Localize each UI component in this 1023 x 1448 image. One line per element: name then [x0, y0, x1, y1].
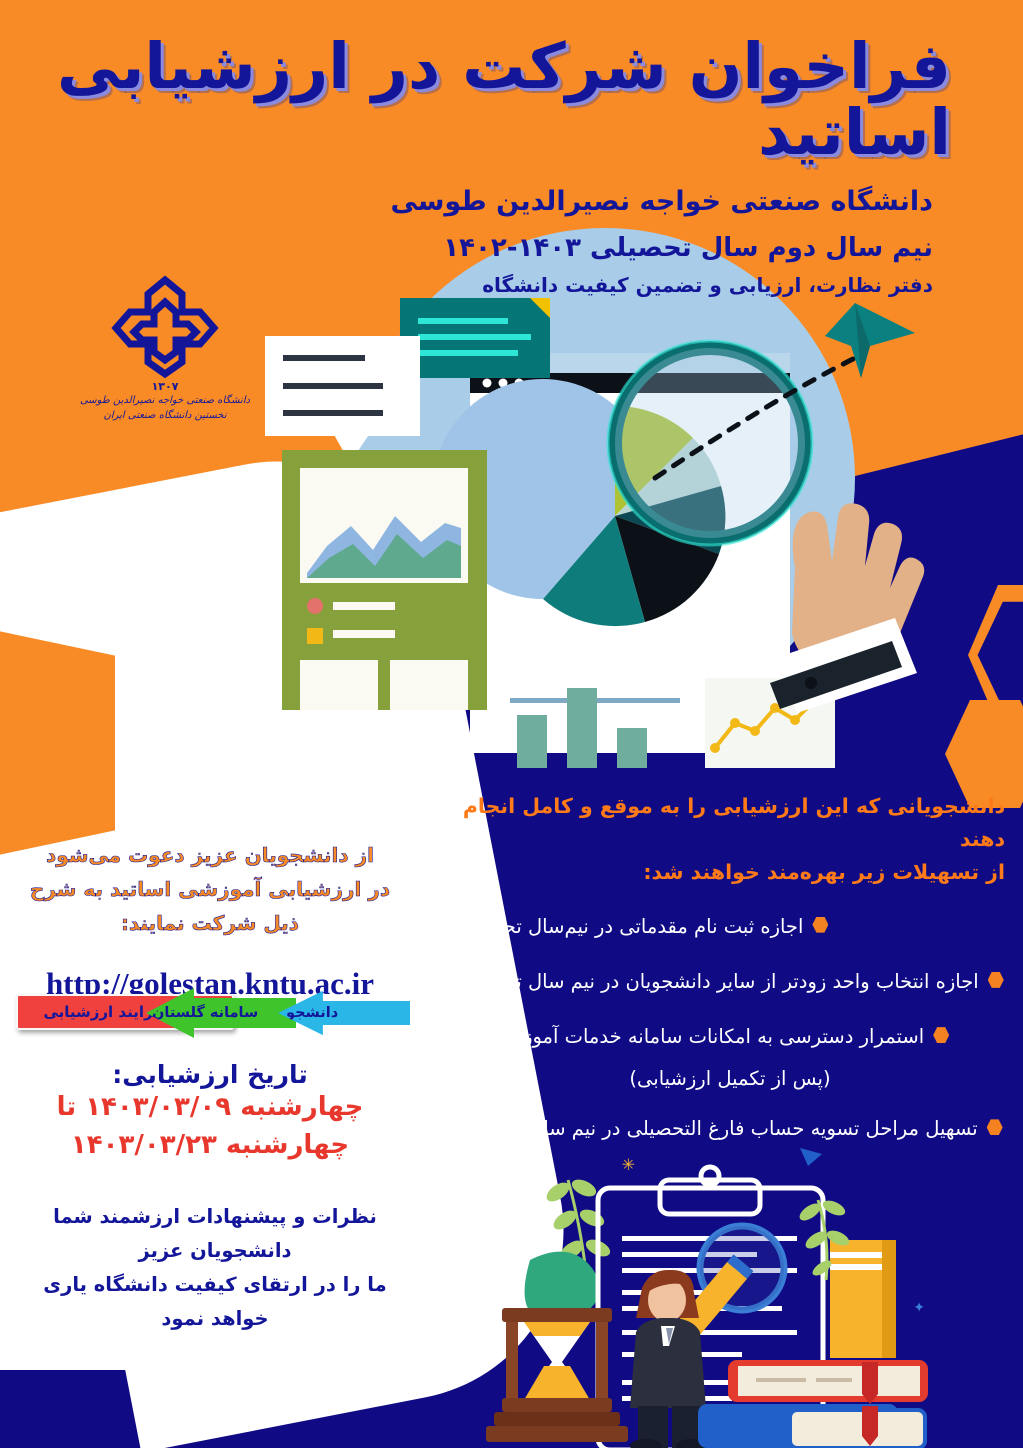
flow-step-student: دانشجو: [278, 990, 410, 1036]
benefit-item-note: (پس از تکمیل ارزشیابی): [425, 1067, 1005, 1090]
dates-label: تاریخ ارزشیابی:: [0, 1060, 420, 1089]
poster-canvas: فراخوان شرکت در ارزشیابی اساتید دانشگاه …: [0, 0, 1023, 1448]
hexagon-bullet-icon: [933, 1027, 949, 1043]
benefits-heading-line2: از تسهیلات زیر بهره‌مند خواهند شد:: [429, 856, 1005, 889]
page-title: فراخوان شرکت در ارزشیابی اساتید: [0, 0, 1023, 166]
benefit-item: اجازه انتخاب واحد زودتر از سایر دانشجویا…: [425, 967, 1005, 996]
benefits-heading-line1: دانشجویانی که این ارزشیابی را به موقع و …: [429, 790, 1005, 856]
closing-message: نظرات و پیشنهادات ارزشمند شما دانشجویان …: [0, 1200, 430, 1337]
hexagon-left-decoration: [0, 628, 115, 858]
benefit-item-label: تسهیل مراحل تسویه حساب فارغ التحصیلی در …: [425, 1114, 978, 1143]
benefit-item: تسهیل مراحل تسویه حساب فارغ التحصیلی در …: [425, 1114, 1005, 1143]
svg-text:✦: ✦: [913, 1299, 925, 1315]
evaluation-dates: تاریخ ارزشیابی: چهارشنبه ۱۴۰۳/۰۳/۰۹ تا چ…: [0, 1060, 420, 1164]
university-name: دانشگاه صنعتی خواجه نصیرالدین طوسی: [0, 166, 1023, 217]
benefits-heading: دانشجویانی که این ارزشیابی را به موقع و …: [425, 790, 1005, 890]
hexagon-bullet-icon: [987, 1119, 1003, 1135]
invitation-line2: در ارزشیابی آموزشی اساتید به شرح ذیل شرک…: [0, 872, 420, 940]
closing-line1: نظرات و پیشنهادات ارزشمند شما دانشجویان …: [16, 1200, 414, 1268]
invitation-line1: از دانشجویان عزیز دعوت می‌شود: [0, 838, 420, 872]
kntu-logo: ۱۳۰۷ دانشگاه صنعتی خواجه نصیرالدین طوسی …: [75, 272, 255, 423]
benefit-item-label: اجازه انتخاب واحد زودتر از سایر دانشجویا…: [425, 967, 979, 996]
data-analytics-illustration: [255, 228, 925, 768]
hexagon-bullet-icon: [812, 917, 828, 933]
evaluation-flow-diagram: انجام فرایند ارزشیابی سامانه گلستان دانش…: [10, 988, 410, 1038]
benefits-section: دانشجویانی که این ارزشیابی را به موقع و …: [425, 790, 1005, 1170]
evaluation-illustration: ✳ ✦: [470, 1140, 1023, 1448]
date-to: چهارشنبه ۱۴۰۳/۰۳/۲۳: [0, 1127, 420, 1165]
hexagon-bullet-icon: [988, 972, 1004, 988]
logo-caption-line2: نخستین دانشگاه صنعتی ایران: [75, 408, 255, 423]
invitation-section: از دانشجویان عزیز دعوت می‌شود در ارزشیاب…: [0, 838, 420, 1002]
flow-step-system-label: سامانه گلستان: [146, 1005, 258, 1021]
benefit-item-label: استمرار دسترسی به امکانات سامانه خدمات آ…: [425, 1022, 924, 1051]
benefit-item-label: اجازه ثبت نام مقدماتی در نیم‌سال تحصیلی …: [425, 912, 803, 941]
date-from: چهارشنبه ۱۴۰۳/۰۳/۰۹ تا: [0, 1089, 420, 1127]
academic-term: نیم سال دوم سال تحصیلی ۱۴۰۳-۱۴۰۲: [0, 217, 1023, 263]
benefit-item: استمرار دسترسی به امکانات سامانه خدمات آ…: [425, 1022, 1005, 1051]
kntu-emblem-icon: [106, 272, 224, 380]
poster-header: فراخوان شرکت در ارزشیابی اساتید دانشگاه …: [0, 0, 1023, 297]
logo-founding-year: ۱۳۰۷: [75, 380, 255, 393]
closing-line2: ما را در ارتقای کیفیت دانشگاه یاری خواهد…: [16, 1268, 414, 1336]
benefit-item: اجازه ثبت نام مقدماتی در نیم‌سال تحصیلی …: [425, 912, 1005, 941]
logo-caption-line1: دانشگاه صنعتی خواجه نصیرالدین طوسی: [75, 393, 255, 408]
